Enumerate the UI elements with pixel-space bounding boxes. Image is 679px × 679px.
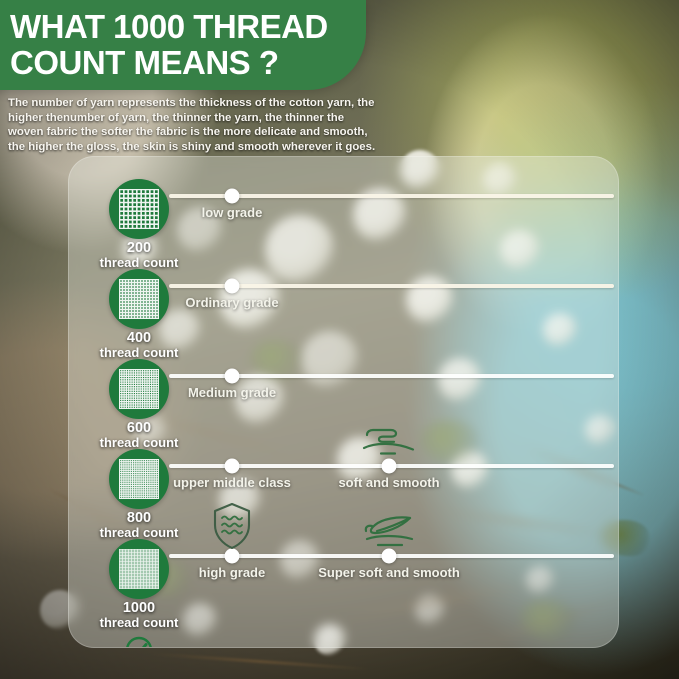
thread-count-unit: thread count: [68, 346, 217, 360]
grade-label: Medium grade: [188, 385, 276, 400]
grade-marker-dot[interactable]: [225, 189, 240, 204]
thread-count-disc[interactable]: [109, 359, 169, 419]
check-circle-icon: [124, 635, 154, 648]
thread-count-label: 200thread count: [68, 241, 217, 270]
thread-mesh: [119, 369, 159, 409]
thread-mesh: [119, 549, 159, 589]
grade-label: high grade: [199, 565, 265, 580]
thread-mesh-icon: [119, 369, 159, 409]
grade-label: upper middle class: [173, 475, 291, 490]
infographic-canvas: WHAT 1000 THREAD COUNT MEANS ? The numbe…: [0, 0, 679, 679]
feature-icon-wrap: [360, 514, 418, 555]
thread-count-unit: thread count: [68, 526, 217, 540]
intro-paragraph: The number of yarn represents the thickn…: [8, 96, 380, 154]
page-title: WHAT 1000 THREAD COUNT MEANS ?: [10, 9, 366, 80]
grade-marker-dot[interactable]: [225, 369, 240, 384]
thread-count-row: 400thread countOrdinary grade: [69, 269, 618, 359]
thread-count-label: 600thread count: [68, 421, 217, 450]
thread-count-number: 400: [68, 331, 217, 346]
thread-mesh: [119, 189, 159, 229]
grade-marker-dot[interactable]: [225, 279, 240, 294]
title-banner: WHAT 1000 THREAD COUNT MEANS ?: [0, 0, 366, 90]
hand-smoothing-fabric-icon: [361, 424, 417, 458]
thread-mesh-icon: [119, 189, 159, 229]
thread-count-row: 600thread countMedium grade: [69, 359, 618, 449]
grade-marker-dot[interactable]: [225, 459, 240, 474]
page-title-line-2: COUNT MEANS ?: [10, 45, 366, 81]
page-title-line-1: WHAT 1000 THREAD: [10, 8, 328, 45]
feather-on-fabric-icon: [360, 514, 418, 550]
thread-count-disc[interactable]: [109, 179, 169, 239]
thread-count-row: 200thread countlow grade: [69, 179, 618, 269]
shield-waves-icon: [210, 501, 254, 551]
intro-text: The number of yarn represents the thickn…: [8, 96, 380, 154]
thread-count-unit: thread count: [68, 436, 217, 450]
feature-label: Super soft and smooth: [318, 565, 460, 580]
feature-icon-wrap: [361, 424, 417, 463]
feature-label: soft and smooth: [338, 475, 439, 490]
thread-count-number: 1000: [68, 601, 217, 616]
thread-count-unit: thread count: [68, 256, 217, 270]
thread-count-disc[interactable]: [109, 449, 169, 509]
thread-mesh-icon: [119, 459, 159, 499]
thread-count-row: 800thread countupper middle classsoft an…: [69, 449, 618, 539]
thread-mesh: [119, 279, 159, 319]
verified-check-wrap: [124, 635, 154, 648]
thread-count-disc[interactable]: [109, 269, 169, 329]
thread-mesh-icon: [119, 549, 159, 589]
thread-count-panel: 200thread countlow grade 400thread count…: [68, 156, 619, 648]
thread-count-disc[interactable]: [109, 539, 169, 599]
thread-count-number: 800: [68, 511, 217, 526]
thread-count-row: 1000thread counthigh grade Super soft an…: [69, 539, 618, 629]
thread-count-unit: thread count: [68, 616, 217, 630]
thread-count-label: 400thread count: [68, 331, 217, 360]
thread-mesh: [119, 459, 159, 499]
thread-count-label: 800thread count: [68, 511, 217, 540]
grade-shield-icon-wrap: [210, 501, 254, 556]
grade-label: Ordinary grade: [185, 295, 278, 310]
grade-label: low grade: [202, 205, 263, 220]
thread-count-number: 600: [68, 421, 217, 436]
thread-mesh-icon: [119, 279, 159, 319]
thread-count-number: 200: [68, 241, 217, 256]
thread-count-label: 1000thread count: [68, 601, 217, 630]
